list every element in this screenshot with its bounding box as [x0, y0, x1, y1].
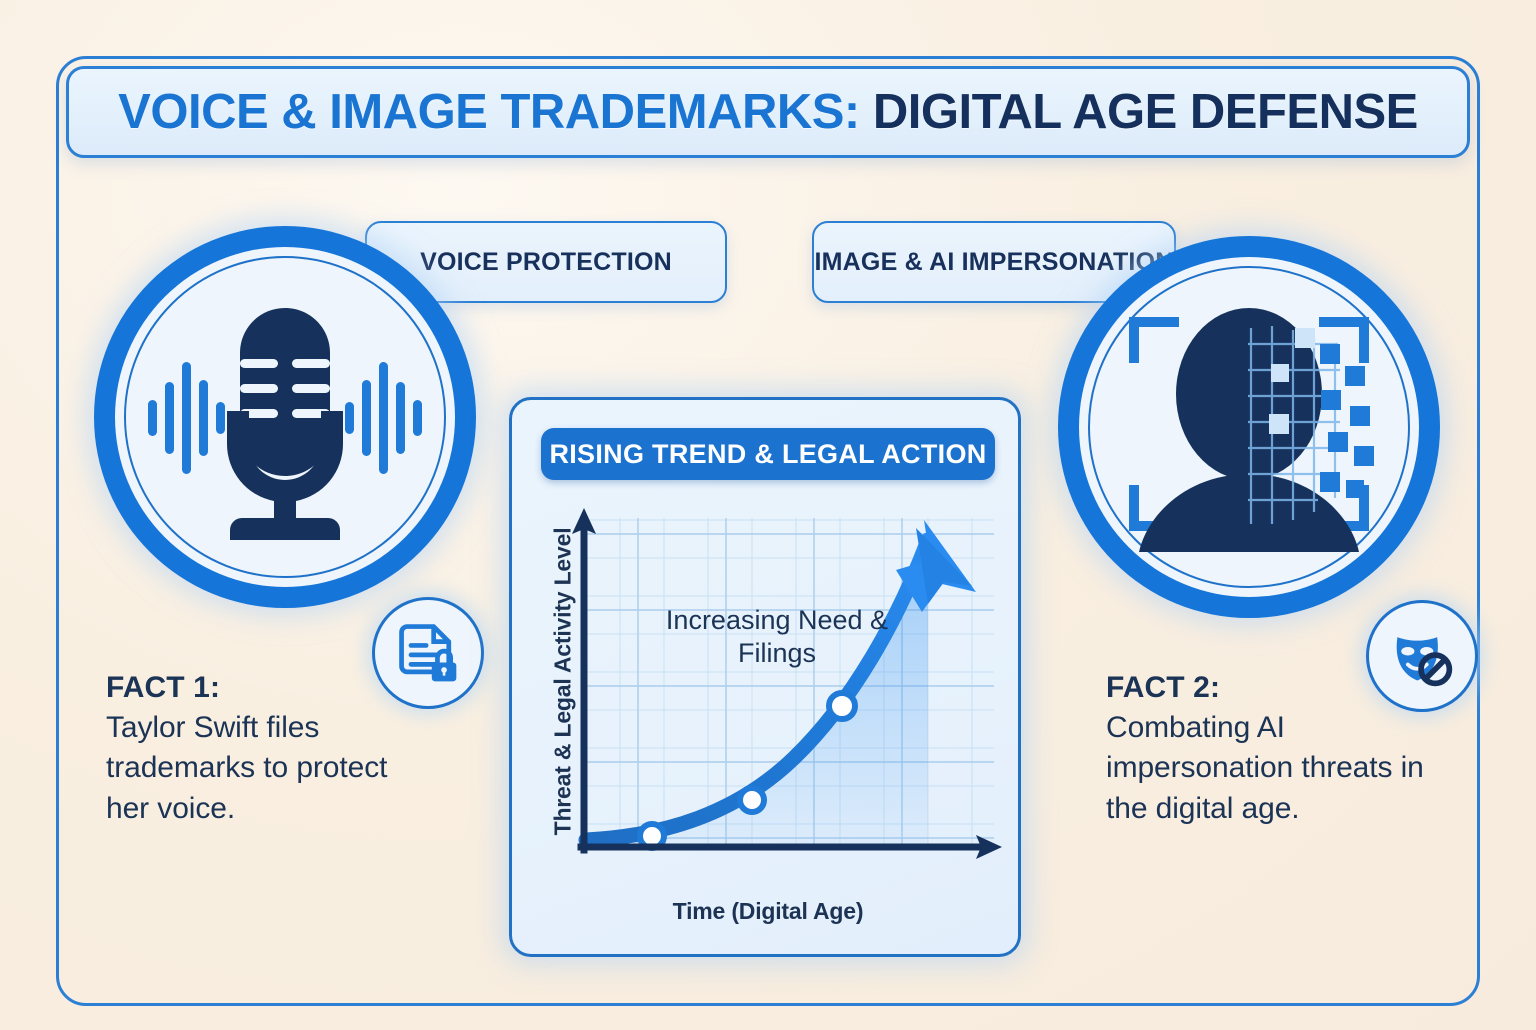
- page-title-secondary: DIGITAL AGE DEFENSE: [860, 85, 1418, 139]
- chart-annotation: Increasing Need & Filings: [642, 604, 912, 670]
- fact-1-lead: FACT 1:: [106, 668, 436, 708]
- chart-plot-area: Threat & Legal Activity Level: [524, 500, 1012, 946]
- face-recognition-scan-icon: [1088, 266, 1410, 588]
- chart-y-axis-label: Threat & Legal Activity Level: [550, 517, 577, 847]
- voice-protection-circle[interactable]: [94, 226, 476, 608]
- page-title-bar: VOICE & IMAGE TRADEMARKS: DIGITAL AGE DE…: [66, 66, 1470, 158]
- chart-x-axis-label: Time (Digital Age): [524, 898, 1012, 925]
- infographic-canvas: VOICE & IMAGE TRADEMARKS: DIGITAL AGE DE…: [0, 0, 1536, 1030]
- page-title-primary: VOICE & IMAGE TRADEMARKS:: [118, 85, 860, 139]
- chart-marker-2[interactable]: [740, 788, 764, 812]
- chart-card: RISING TREND & LEGAL ACTION Threat & Leg…: [509, 397, 1021, 957]
- fact-2-body: Combating AI impersonation threats in th…: [1106, 711, 1424, 824]
- microphone-soundwave-icon: [124, 256, 446, 578]
- fact-2: FACT 2: Combating AI impersonation threa…: [1106, 668, 1446, 829]
- fact-2-lead: FACT 2:: [1106, 668, 1446, 708]
- chart-marker-3[interactable]: [829, 693, 855, 719]
- page-title: VOICE & IMAGE TRADEMARKS: DIGITAL AGE DE…: [118, 84, 1418, 140]
- label-voice-protection-text: VOICE PROTECTION: [420, 248, 672, 277]
- fact-1-body: Taylor Swift files trademarks to protect…: [106, 711, 387, 824]
- image-ai-circle[interactable]: [1058, 236, 1440, 618]
- fact-1: FACT 1: Taylor Swift files trademarks to…: [106, 668, 436, 829]
- chart-title-banner: RISING TREND & LEGAL ACTION: [541, 428, 995, 480]
- chart-svg: [524, 500, 1012, 900]
- chart-title: RISING TREND & LEGAL ACTION: [549, 439, 986, 470]
